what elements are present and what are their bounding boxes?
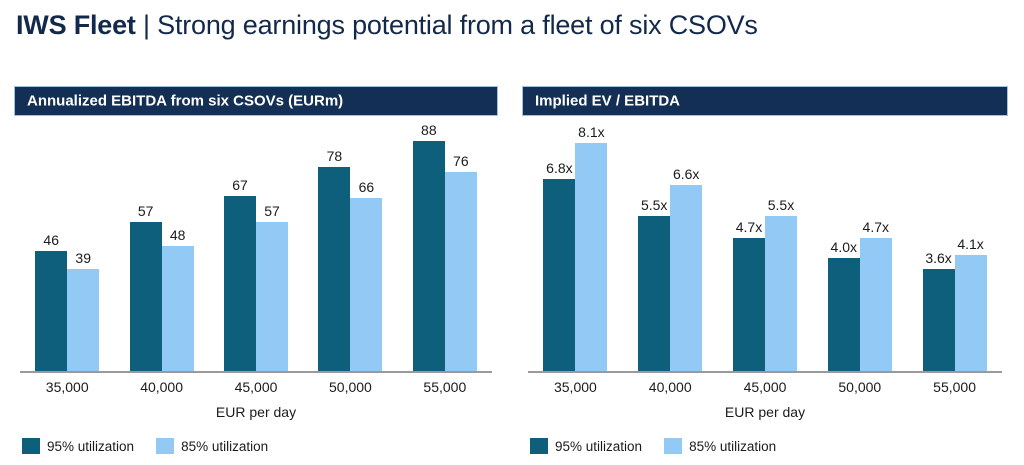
legend-item[interactable]: 95% utilization: [22, 438, 134, 454]
x-axis-tick-label: 40,000: [114, 379, 208, 395]
bar[interactable]: 6.8x: [543, 179, 575, 371]
page-title-strong: IWS Fleet: [16, 10, 136, 40]
x-axis-tick-label: 45,000: [209, 379, 303, 395]
bar-value-label: 5.5x: [641, 197, 667, 213]
bar[interactable]: 6.6x: [670, 185, 702, 371]
bar-slot: 3.6x: [923, 120, 955, 371]
bar-slot: 6.6x: [670, 120, 702, 371]
bar[interactable]: 46: [35, 251, 67, 371]
legend-item[interactable]: 85% utilization: [156, 438, 268, 454]
bar-value-label: 57: [138, 203, 154, 219]
bar-value-label: 3.6x: [925, 250, 951, 266]
bar[interactable]: 78: [318, 167, 350, 371]
x-axis-tick-label: 35,000: [528, 379, 623, 395]
bar-value-label: 76: [453, 153, 469, 169]
bar-slot: 57: [130, 120, 162, 371]
page-title: IWS Fleet | Strong earnings potential fr…: [16, 8, 758, 42]
legend-item[interactable]: 95% utilization: [530, 438, 642, 454]
bar-slot: 39: [67, 120, 99, 371]
bar[interactable]: 5.5x: [765, 216, 797, 371]
legend-swatch-icon: [156, 438, 174, 454]
bar[interactable]: 8.1x: [575, 143, 607, 371]
legend-label: 95% utilization: [47, 439, 134, 454]
bar-slot: 78: [318, 120, 350, 371]
x-axis-tick-label: 50,000: [303, 379, 397, 395]
x-axis-tick-label: 35,000: [20, 379, 114, 395]
legend-item[interactable]: 85% utilization: [664, 438, 776, 454]
bar-value-label: 5.5x: [768, 197, 794, 213]
bar-group: 8876: [398, 120, 492, 371]
bar-slot: 5.5x: [638, 120, 670, 371]
chart-annualized-ebitda: 46395748675778668876: [14, 120, 498, 373]
bar-value-label: 6.8x: [546, 160, 572, 176]
bar-group: 6.8x8.1x: [528, 120, 623, 371]
chart-legend: 95% utilization85% utilization: [530, 438, 798, 454]
bar-value-label: 39: [75, 250, 91, 266]
legend-swatch-icon: [530, 438, 548, 454]
bar-slot: 4.7x: [733, 120, 765, 371]
legend-label: 85% utilization: [181, 439, 268, 454]
bar-value-label: 46: [43, 232, 59, 248]
bar-groups: 6.8x8.1x5.5x6.6x4.7x5.5x4.0x4.7x3.6x4.1x: [528, 120, 1002, 371]
legend-swatch-icon: [22, 438, 40, 454]
bar-value-label: 4.7x: [736, 219, 762, 235]
bar-slot: 48: [162, 120, 194, 371]
x-axis-tick-labels: 35,00040,00045,00050,00055,000: [20, 379, 492, 395]
chart-legend: 95% utilization85% utilization: [22, 438, 290, 454]
bar-slot: 4.7x: [860, 120, 892, 371]
bar[interactable]: 76: [445, 172, 477, 371]
x-axis-tick-label: 50,000: [812, 379, 907, 395]
panel-header-implied-ev-ebitda: Implied EV / EBITDA: [522, 86, 1008, 116]
panel-annualized-ebitda: Annualized EBITDA from six CSOVs (EURm) …: [14, 86, 498, 458]
bar-value-label: 66: [359, 179, 375, 195]
legend-label: 85% utilization: [689, 439, 776, 454]
bar-group: 3.6x4.1x: [907, 120, 1002, 371]
bar-value-label: 4.7x: [863, 219, 889, 235]
bar-value-label: 4.0x: [831, 239, 857, 255]
bar-group: 5748: [114, 120, 208, 371]
bar-slot: 66: [350, 120, 382, 371]
x-axis-tick-label: 45,000: [718, 379, 813, 395]
x-axis-tick-label: 55,000: [907, 379, 1002, 395]
panel-header-label: Implied EV / EBITDA: [535, 93, 680, 110]
bar-value-label: 8.1x: [578, 124, 604, 140]
page-title-rest: Strong earnings potential from a fleet o…: [157, 10, 758, 40]
x-axis-tick-labels: 35,00040,00045,00050,00055,000: [528, 379, 1002, 395]
panel-header-annualized-ebitda: Annualized EBITDA from six CSOVs (EURm): [14, 86, 498, 116]
bar-slot: 4.0x: [828, 120, 860, 371]
x-axis-tick-label: 55,000: [398, 379, 492, 395]
bar-slot: 5.5x: [765, 120, 797, 371]
bar[interactable]: 4.0x: [828, 258, 860, 371]
panel-header-label: Annualized EBITDA from six CSOVs (EURm): [27, 93, 343, 110]
bar-slot: 46: [35, 120, 67, 371]
page-title-separator: |: [136, 10, 157, 40]
bar[interactable]: 48: [162, 246, 194, 372]
bar-value-label: 4.1x: [957, 236, 983, 252]
bar[interactable]: 5.5x: [638, 216, 670, 371]
bar-slot: 67: [224, 120, 256, 371]
legend-label: 95% utilization: [555, 439, 642, 454]
bar-value-label: 67: [232, 177, 248, 193]
bar[interactable]: 66: [350, 198, 382, 371]
x-axis-tick-label: 40,000: [623, 379, 718, 395]
bar[interactable]: 39: [67, 269, 99, 371]
bar-slot: 57: [256, 120, 288, 371]
bar-value-label: 78: [327, 148, 343, 164]
x-axis-line: [528, 371, 1002, 373]
bar-slot: 4.1x: [955, 120, 987, 371]
x-axis-line: [20, 371, 492, 373]
chart-implied-ev-ebitda: 6.8x8.1x5.5x6.6x4.7x5.5x4.0x4.7x3.6x4.1x: [522, 120, 1008, 373]
bar-value-label: 88: [421, 122, 437, 138]
bar[interactable]: 4.7x: [733, 238, 765, 371]
bar-group: 6757: [209, 120, 303, 371]
bar-value-label: 6.6x: [673, 166, 699, 182]
bar[interactable]: 4.7x: [860, 238, 892, 371]
bar-slot: 76: [445, 120, 477, 371]
bar[interactable]: 67: [224, 196, 256, 371]
bar-group: 4.0x4.7x: [812, 120, 907, 371]
bar-group: 7866: [303, 120, 397, 371]
bar[interactable]: 57: [256, 222, 288, 371]
panel-implied-ev-ebitda: Implied EV / EBITDA 6.8x8.1x5.5x6.6x4.7x…: [522, 86, 1008, 458]
x-axis-title: EUR per day: [14, 404, 498, 420]
bar[interactable]: 4.1x: [955, 255, 987, 371]
bar-group: 5.5x6.6x: [623, 120, 718, 371]
bar-slot: 6.8x: [543, 120, 575, 371]
x-axis-title: EUR per day: [522, 404, 1008, 420]
bar[interactable]: 88: [413, 141, 445, 371]
bar-group: 4639: [20, 120, 114, 371]
bar-slot: 8.1x: [575, 120, 607, 371]
bar[interactable]: 57: [130, 222, 162, 371]
bar-value-label: 57: [264, 203, 280, 219]
bar-slot: 88: [413, 120, 445, 371]
bar-value-label: 48: [170, 227, 186, 243]
bar[interactable]: 3.6x: [923, 269, 955, 371]
bar-groups: 46395748675778668876: [20, 120, 492, 371]
bar-group: 4.7x5.5x: [718, 120, 813, 371]
legend-swatch-icon: [664, 438, 682, 454]
